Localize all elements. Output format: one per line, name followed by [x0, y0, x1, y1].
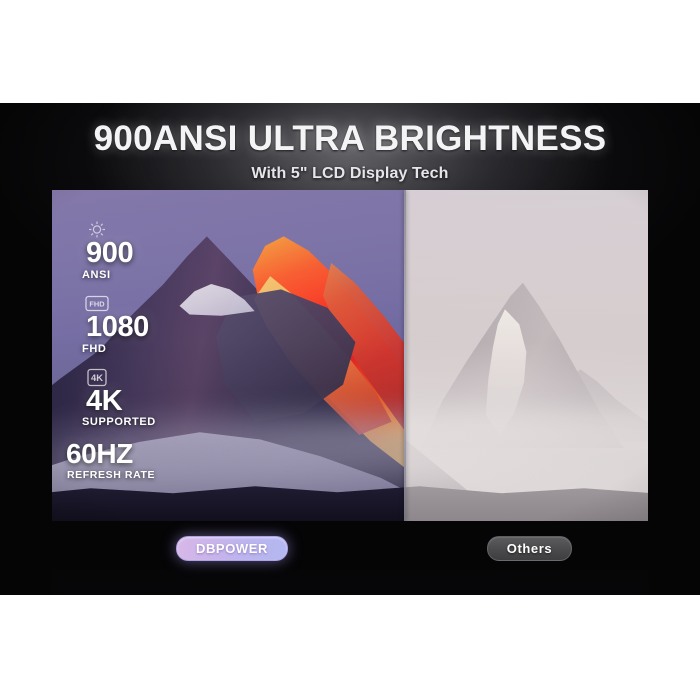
reflection-fade: [52, 569, 648, 595]
comparison-photo-panel: 900 ANSI FHD 1080 FHD: [52, 190, 648, 521]
spec-label: SUPPORTED: [62, 416, 212, 428]
reflection-scene: [52, 569, 648, 595]
foreground-ridge: [52, 569, 648, 595]
spec-value: 4K: [62, 388, 212, 416]
snow-slope: [52, 569, 457, 595]
brand-pill-dbpower[interactable]: DBPOWER: [176, 536, 288, 561]
svg-text:4K: 4K: [91, 372, 103, 383]
spec-item-refresh: 60HZ REFRESH RATE: [62, 441, 212, 481]
mountain-scene-washed: [404, 190, 648, 521]
4k-badge-icon: 4K: [84, 368, 110, 387]
sky: [52, 569, 648, 595]
black-banner: 900ANSI ULTRA BRIGHTNESS With 5" LCD Dis…: [0, 103, 700, 595]
spec-item-ansi: 900 ANSI: [62, 220, 212, 281]
split-divider: [404, 190, 406, 521]
fhd-badge-icon: FHD: [84, 294, 110, 313]
page-subtitle: With 5" LCD Display Tech: [0, 165, 700, 183]
photo-half-others: [404, 190, 648, 521]
spec-label: ANSI: [62, 269, 212, 281]
main-peak: [52, 569, 505, 595]
svg-text:FHD: FHD: [89, 299, 105, 308]
panel-reflection: [52, 569, 648, 595]
brightness-icon: [84, 220, 110, 239]
spec-label: FHD: [62, 343, 212, 355]
spec-value: 1080: [62, 314, 212, 342]
spec-value: 900: [62, 240, 212, 268]
spec-value: 60HZ: [62, 441, 212, 468]
page-title: 900ANSI ULTRA BRIGHTNESS: [0, 119, 700, 159]
headline-block: 900ANSI ULTRA BRIGHTNESS With 5" LCD Dis…: [0, 119, 700, 183]
spec-list: 900 ANSI FHD 1080 FHD: [62, 220, 212, 494]
banner-stage: 900ANSI ULTRA BRIGHTNESS With 5" LCD Dis…: [0, 0, 700, 700]
spec-item-fhd: FHD 1080 FHD: [62, 294, 212, 355]
brand-pill-others[interactable]: Others: [487, 536, 572, 561]
spec-label: REFRESH RATE: [62, 469, 212, 481]
spec-item-4k: 4K 4K SUPPORTED: [62, 368, 212, 429]
